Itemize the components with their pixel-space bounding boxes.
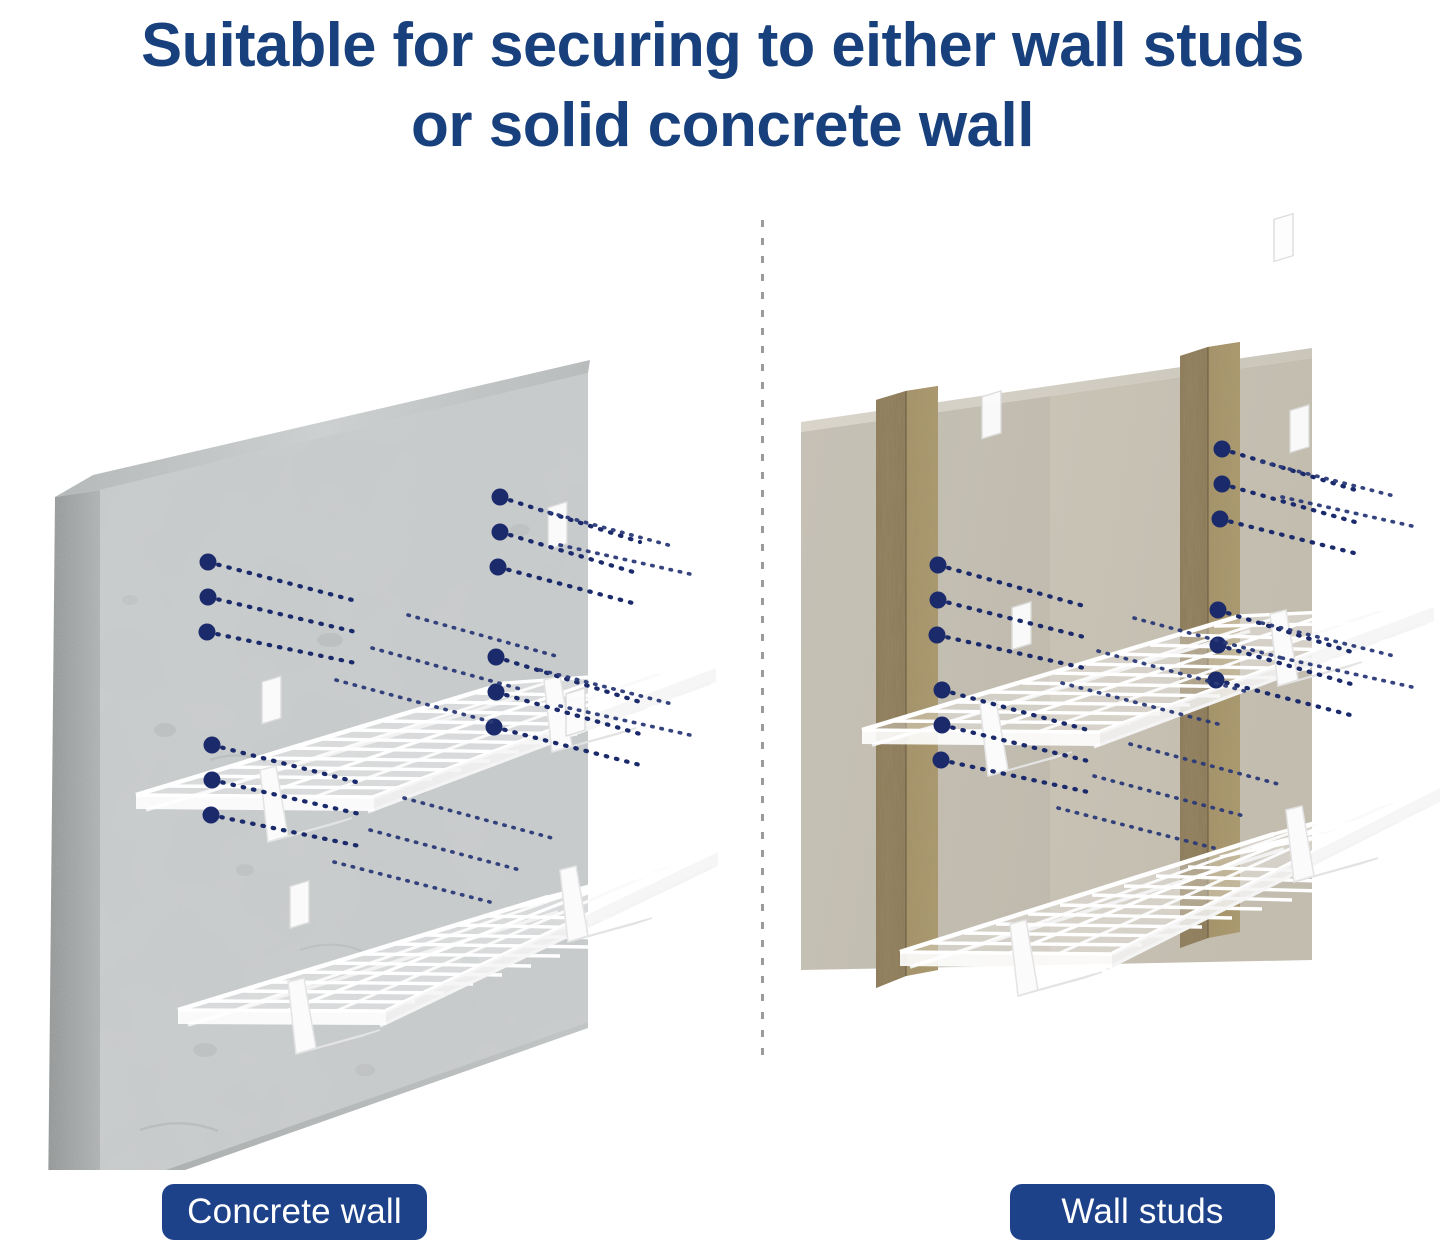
label-concrete-wall: Concrete wall bbox=[162, 1184, 427, 1240]
illustration-stage bbox=[0, 170, 1445, 1170]
page-title: Suitable for securing to either wall stu… bbox=[0, 0, 1445, 166]
wall-plate-lower-left bbox=[290, 881, 309, 929]
wall-plate-upper-right bbox=[548, 502, 567, 550]
vertical-dashed-divider bbox=[761, 220, 764, 1062]
label-wall-studs: Wall studs bbox=[1010, 1184, 1275, 1240]
wall-plate-lower-right bbox=[1290, 405, 1309, 453]
wall-studs-illustration bbox=[801, 214, 1440, 996]
concrete-slab-side-face bbox=[48, 490, 100, 1170]
wall-stud-left bbox=[876, 386, 938, 988]
concrete-wall-illustration bbox=[48, 360, 718, 1170]
wall-plate-lower-left bbox=[1012, 602, 1031, 650]
wall-plate-upper-left bbox=[982, 391, 1001, 439]
wall-plate-upper-right bbox=[1274, 214, 1293, 262]
page-title-line-2: or solid concrete wall bbox=[0, 86, 1445, 166]
wall-plate-upper-left bbox=[262, 676, 281, 724]
page-title-line-1: Suitable for securing to either wall stu… bbox=[7, 6, 1438, 86]
